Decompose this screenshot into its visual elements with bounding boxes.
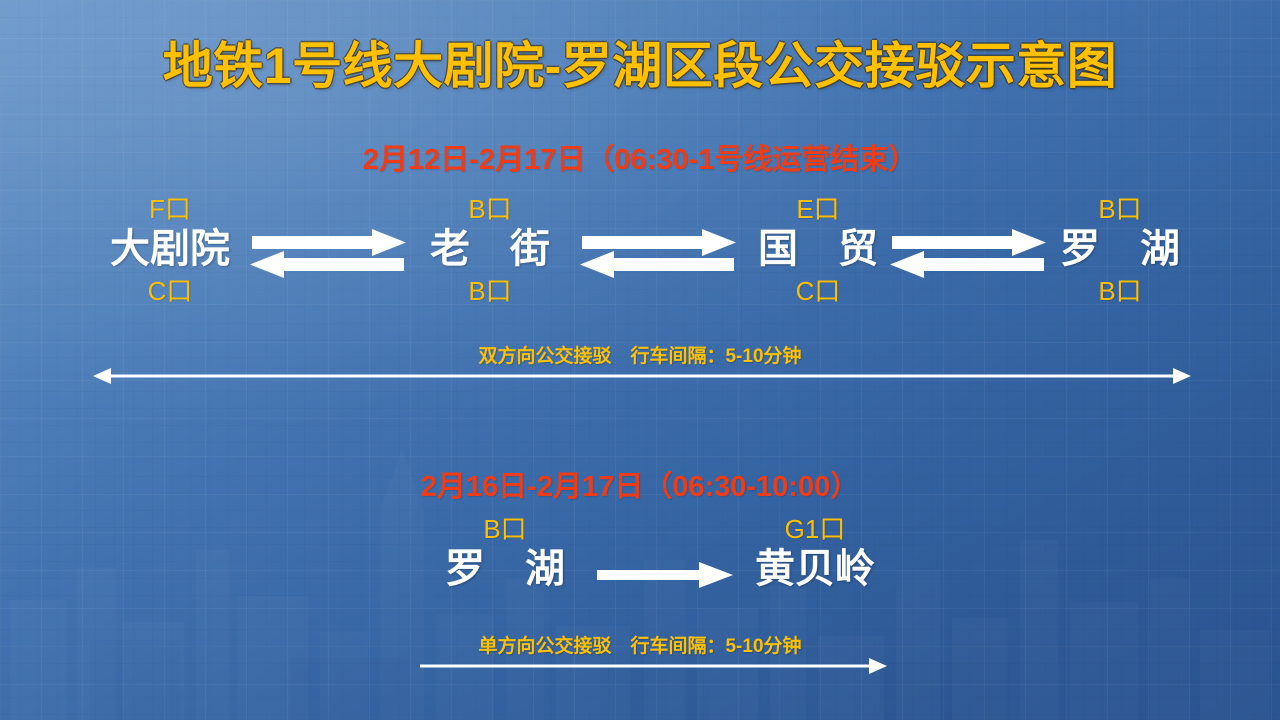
section1-subtitle: 2月12日-2月17日（06:30-1号线运营结束） bbox=[0, 136, 1280, 178]
exit-label-bottom: B口 bbox=[1030, 278, 1210, 304]
exit-label-top: G1口 bbox=[725, 516, 905, 542]
station-huangbeiling: G1口 黄贝岭 bbox=[725, 516, 905, 590]
exit-label-bottom: C口 bbox=[80, 278, 260, 304]
bidirectional-arrow-1 bbox=[248, 228, 408, 286]
station-name: 罗 湖 bbox=[1030, 228, 1210, 270]
exit-label-bottom: B口 bbox=[400, 278, 580, 304]
exit-label-top: E口 bbox=[728, 196, 908, 222]
bidirectional-arrow-2 bbox=[578, 228, 738, 286]
station-name: 罗 湖 bbox=[415, 548, 595, 590]
exit-label-top: F口 bbox=[80, 196, 260, 222]
station-dajuyuan: F口 大剧院 C口 bbox=[80, 196, 260, 304]
bidirectional-arrow-3 bbox=[888, 228, 1048, 286]
station-luohu-section2: B口 罗 湖 bbox=[415, 516, 595, 590]
exit-label-top: B口 bbox=[415, 516, 595, 542]
station-guomao: E口 国 贸 C口 bbox=[728, 196, 908, 304]
exit-label-top: B口 bbox=[1030, 196, 1210, 222]
section1-span-arrow bbox=[92, 364, 1192, 393]
section2-subtitle: 2月16日-2月17日（06:30-10:00） bbox=[0, 463, 1280, 505]
page-title: 地铁1号线大剧院-罗湖区段公交接驳示意图 bbox=[0, 26, 1280, 98]
station-name: 黄贝岭 bbox=[725, 548, 905, 590]
oneway-arrow-1 bbox=[595, 560, 735, 590]
shuttle-bus-diagram-poster: 地铁1号线大剧院-罗湖区段公交接驳示意图 2月12日-2月17日（06:30-1… bbox=[0, 0, 1280, 720]
section2-span-arrow bbox=[418, 654, 888, 683]
station-laojie: B口 老 街 B口 bbox=[400, 196, 580, 304]
exit-label-bottom: C口 bbox=[728, 278, 908, 304]
station-name: 大剧院 bbox=[80, 228, 260, 270]
station-name: 老 街 bbox=[400, 228, 580, 270]
exit-label-top: B口 bbox=[400, 196, 580, 222]
station-luohu: B口 罗 湖 B口 bbox=[1030, 196, 1210, 304]
station-name: 国 贸 bbox=[728, 228, 908, 270]
